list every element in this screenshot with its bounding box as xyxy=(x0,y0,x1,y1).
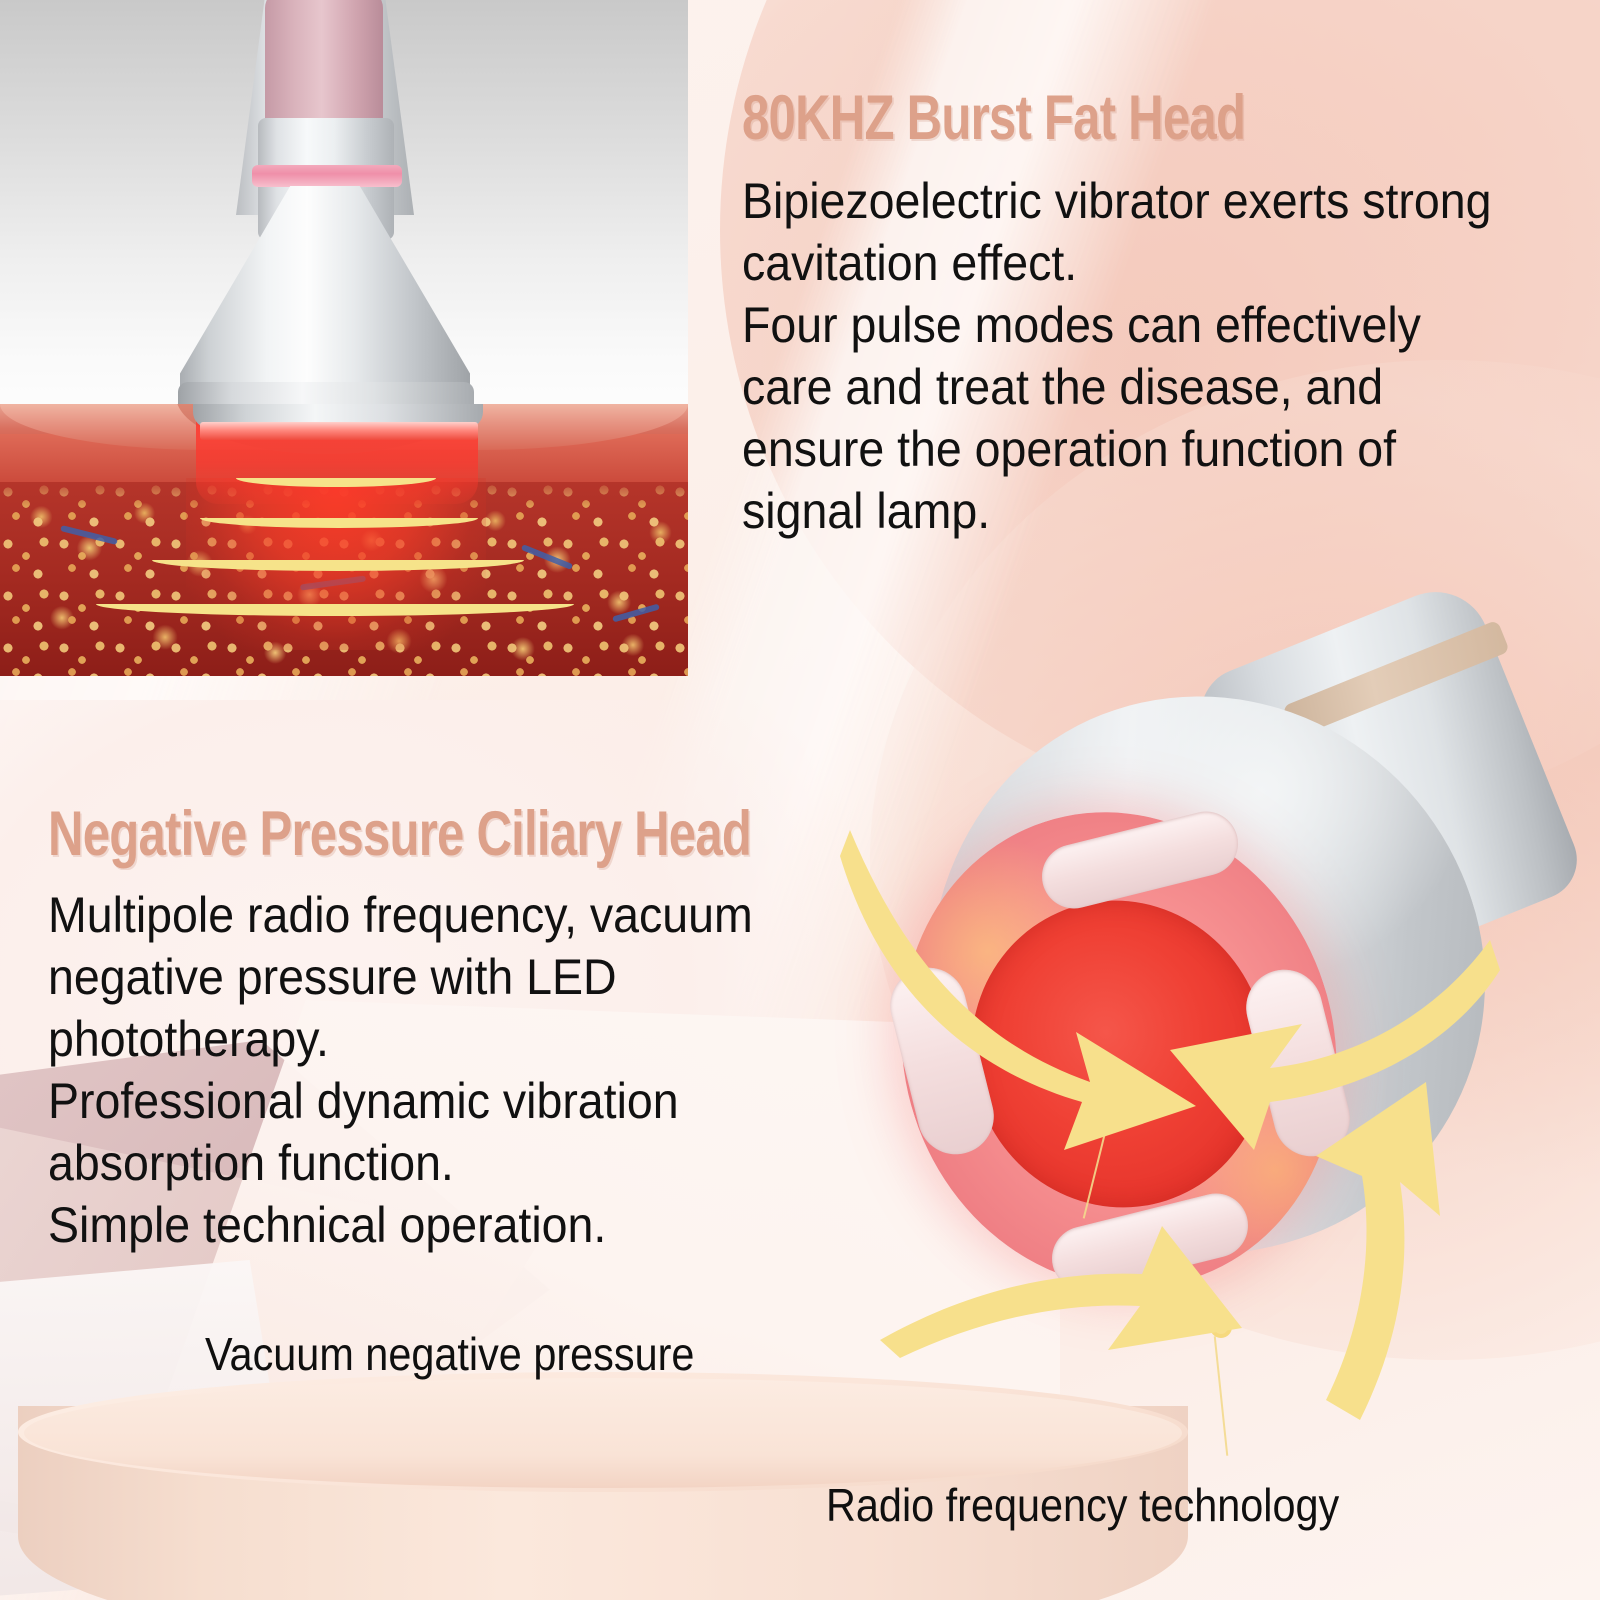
probe-indicator-ring xyxy=(252,165,402,187)
probe-emitter-window xyxy=(200,422,478,440)
cavitation-probe-photo xyxy=(0,0,688,420)
section-negative-pressure-ciliary-head: Negative Pressure Ciliary Head Multipole… xyxy=(48,798,948,1256)
rf-ciliary-head-photo xyxy=(880,610,1600,1490)
infographic-canvas: 80KHZ Burst Fat Head Bipiezoelectric vib… xyxy=(0,0,1600,1600)
section-burst-fat-head: 80KHZ Burst Fat Head Bipiezoelectric vib… xyxy=(742,82,1582,542)
heading-ciliary-head: Negative Pressure Ciliary Head xyxy=(48,798,750,870)
probe-bell xyxy=(180,186,470,404)
heading-burst-fat-head: 80KHZ Burst Fat Head xyxy=(742,82,1397,154)
caption-vacuum-negative-pressure: Vacuum negative pressure xyxy=(205,1327,694,1381)
caption-radio-frequency-technology: Radio frequency technology xyxy=(826,1478,1339,1532)
body-ciliary-head: Multipole radio frequency, vacuum negati… xyxy=(48,884,885,1256)
skin-cross-section-illustration xyxy=(0,404,688,676)
body-burst-fat-head: Bipiezoelectric vibrator exerts strong c… xyxy=(742,170,1523,542)
